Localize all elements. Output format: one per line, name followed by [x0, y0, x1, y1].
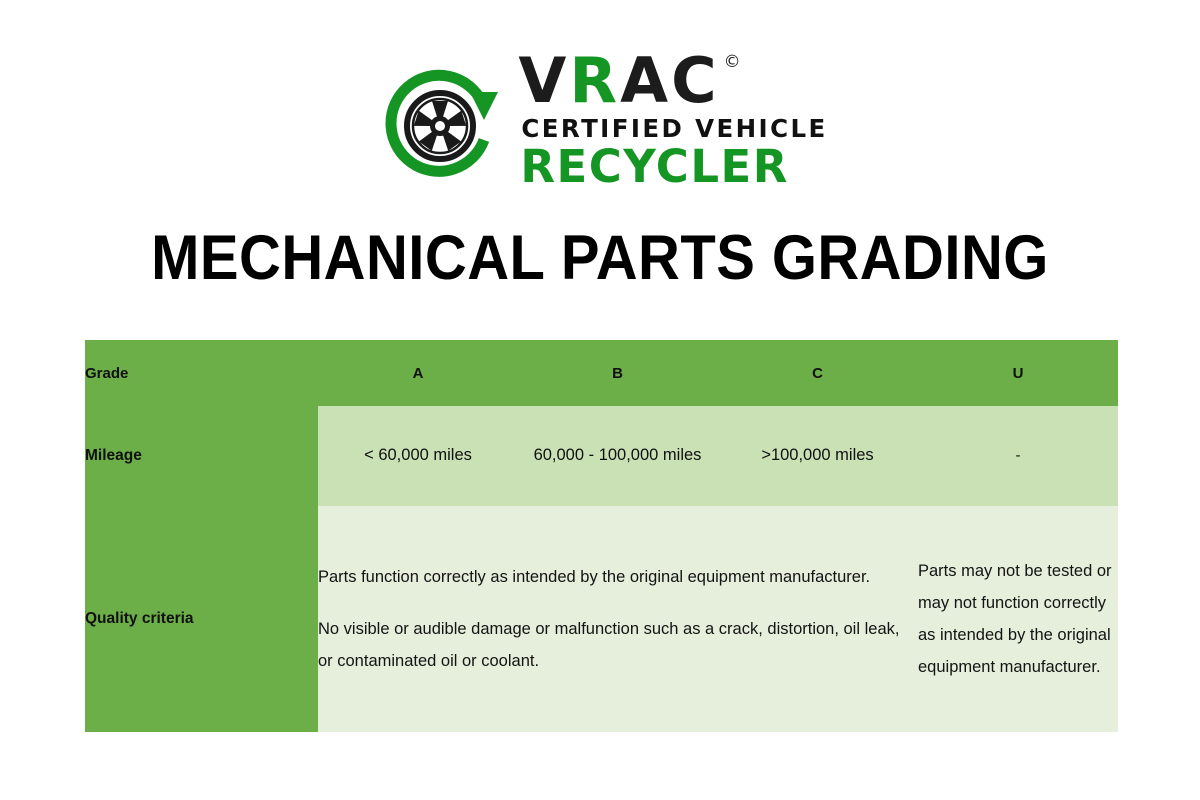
header-cell-grade: Grade — [85, 340, 318, 406]
header-label-a: A — [318, 365, 518, 382]
logo-inner: VRAC© CERTIFIED VEHICLE RECYCLER — [372, 48, 827, 194]
mileage-cell-b: 60,000 - 100,000 miles — [518, 406, 717, 506]
logo-r: R — [569, 52, 620, 111]
header-cell-b: B — [518, 340, 717, 406]
quality-u-paragraph: Parts may not be tested or may not funct… — [918, 555, 1118, 684]
header-label-u: U — [918, 365, 1118, 382]
quality-cell-abc: Parts function correctly as intended by … — [318, 506, 918, 732]
header-cell-c: C — [717, 340, 918, 406]
row-label-quality-criteria: Quality criteria — [85, 506, 318, 732]
mileage-cell-c: >100,000 miles — [717, 406, 918, 506]
logo-vrac-text: VRAC© — [518, 52, 743, 111]
header-label-b: B — [518, 365, 717, 382]
wheel-recycle-icon — [372, 54, 512, 194]
header-cell-u: U — [918, 340, 1118, 406]
header-label-grade: Grade — [85, 365, 318, 382]
paragraph-spacer — [318, 593, 918, 613]
mileage-cell-u: - — [918, 406, 1118, 506]
header-label-c: C — [717, 365, 918, 382]
logo-ac: AC — [620, 52, 719, 111]
mileage-cell-a: < 60,000 miles — [318, 406, 518, 506]
logo-v: V — [518, 52, 569, 111]
logo-wordmark: VRAC© CERTIFIED VEHICLE RECYCLER — [518, 52, 827, 190]
brand-logo: VRAC© CERTIFIED VEHICLE RECYCLER — [0, 48, 1200, 198]
logo-recycler-text: RECYCLER — [520, 144, 789, 190]
table-header-row: Grade A B C U — [85, 340, 1118, 406]
page-title: MECHANICAL PARTS GRADING — [48, 222, 1152, 294]
copyright-icon: © — [724, 54, 744, 71]
quality-cell-u: Parts may not be tested or may not funct… — [918, 506, 1118, 732]
quality-abc-paragraph-1: Parts function correctly as intended by … — [318, 561, 918, 593]
table-row-quality-criteria: Quality criteria Parts function correctl… — [85, 506, 1118, 732]
mechanical-parts-grading-table: Grade A B C U Mileage < 60,000 miles 60,… — [85, 340, 1118, 732]
table-row-mileage: Mileage < 60,000 miles 60,000 - 100,000 … — [85, 406, 1118, 506]
logo-certified-vehicle-text: CERTIFIED VEHICLE — [521, 114, 827, 143]
row-label-mileage: Mileage — [85, 406, 318, 506]
header-cell-a: A — [318, 340, 518, 406]
quality-abc-paragraph-2: No visible or audible damage or malfunct… — [318, 613, 918, 677]
